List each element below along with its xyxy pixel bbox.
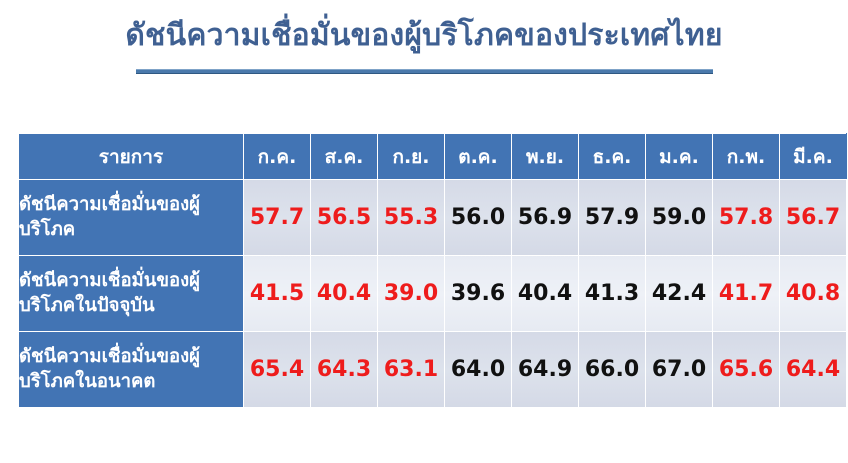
cell-r1-c5: 41.3 xyxy=(579,256,646,332)
column-header-month-6: ม.ค. xyxy=(646,134,713,180)
column-header-month-2: ก.ย. xyxy=(378,134,445,180)
column-header-month-5: ธ.ค. xyxy=(579,134,646,180)
table-header: รายการ ก.ค. ส.ค. ก.ย. ต.ค. พ.ย. ธ.ค. ม.ค… xyxy=(19,134,847,180)
table-row: ดัชนีความเชื่อมั่นของผู้บริโภคในปัจจุบัน… xyxy=(19,256,847,332)
cell-r0-c5: 57.9 xyxy=(579,180,646,256)
cell-r2-c6: 67.0 xyxy=(646,332,713,408)
row-label-future-index: ดัชนีความเชื่อมั่นของผู้บริโภคในอนาคต xyxy=(19,332,244,408)
cell-r0-c8: 56.7 xyxy=(780,180,847,256)
cell-r0-c1: 56.5 xyxy=(311,180,378,256)
cell-r0-c2: 55.3 xyxy=(378,180,445,256)
table-header-row: รายการ ก.ค. ส.ค. ก.ย. ต.ค. พ.ย. ธ.ค. ม.ค… xyxy=(19,134,847,180)
cell-r2-c0: 65.4 xyxy=(244,332,311,408)
cell-r1-c7: 41.7 xyxy=(713,256,780,332)
consumer-confidence-table: รายการ ก.ค. ส.ค. ก.ย. ต.ค. พ.ย. ธ.ค. ม.ค… xyxy=(18,133,847,408)
column-header-month-1: ส.ค. xyxy=(311,134,378,180)
cell-r1-c4: 40.4 xyxy=(512,256,579,332)
cell-r1-c8: 40.8 xyxy=(780,256,847,332)
row-label-overall-index: ดัชนีความเชื่อมั่นของผู้บริโภค xyxy=(19,180,244,256)
page-title: ดัชนีความเชื่อมั่นของผู้บริโภคของประเทศไ… xyxy=(0,18,848,55)
title-underline-rule xyxy=(136,69,713,74)
table-row: ดัชนีความเชื่อมั่นของผู้บริโภคในอนาคต 65… xyxy=(19,332,847,408)
row-label-present-index: ดัชนีความเชื่อมั่นของผู้บริโภคในปัจจุบัน xyxy=(19,256,244,332)
cell-r1-c0: 41.5 xyxy=(244,256,311,332)
cell-r2-c1: 64.3 xyxy=(311,332,378,408)
cell-r1-c2: 39.0 xyxy=(378,256,445,332)
cell-r1-c1: 40.4 xyxy=(311,256,378,332)
column-header-month-0: ก.ค. xyxy=(244,134,311,180)
cell-r0-c6: 59.0 xyxy=(646,180,713,256)
cell-r2-c3: 64.0 xyxy=(445,332,512,408)
cell-r0-c4: 56.9 xyxy=(512,180,579,256)
consumer-confidence-table-wrapper: รายการ ก.ค. ส.ค. ก.ย. ต.ค. พ.ย. ธ.ค. ม.ค… xyxy=(18,133,838,408)
cell-r0-c3: 56.0 xyxy=(445,180,512,256)
cell-r1-c3: 39.6 xyxy=(445,256,512,332)
cell-r2-c5: 66.0 xyxy=(579,332,646,408)
cell-r1-c6: 42.4 xyxy=(646,256,713,332)
cell-r2-c2: 63.1 xyxy=(378,332,445,408)
title-block: ดัชนีความเชื่อมั่นของผู้บริโภคของประเทศไ… xyxy=(0,0,848,74)
table-body: ดัชนีความเชื่อมั่นของผู้บริโภค 57.7 56.5… xyxy=(19,180,847,408)
cell-r2-c8: 64.4 xyxy=(780,332,847,408)
column-header-label: รายการ xyxy=(19,134,244,180)
cell-r0-c0: 57.7 xyxy=(244,180,311,256)
column-header-month-7: ก.พ. xyxy=(713,134,780,180)
cell-r2-c4: 64.9 xyxy=(512,332,579,408)
column-header-month-3: ต.ค. xyxy=(445,134,512,180)
cell-r0-c7: 57.8 xyxy=(713,180,780,256)
table-row: ดัชนีความเชื่อมั่นของผู้บริโภค 57.7 56.5… xyxy=(19,180,847,256)
cell-r2-c7: 65.6 xyxy=(713,332,780,408)
column-header-month-8: มี.ค. xyxy=(780,134,847,180)
column-header-month-4: พ.ย. xyxy=(512,134,579,180)
